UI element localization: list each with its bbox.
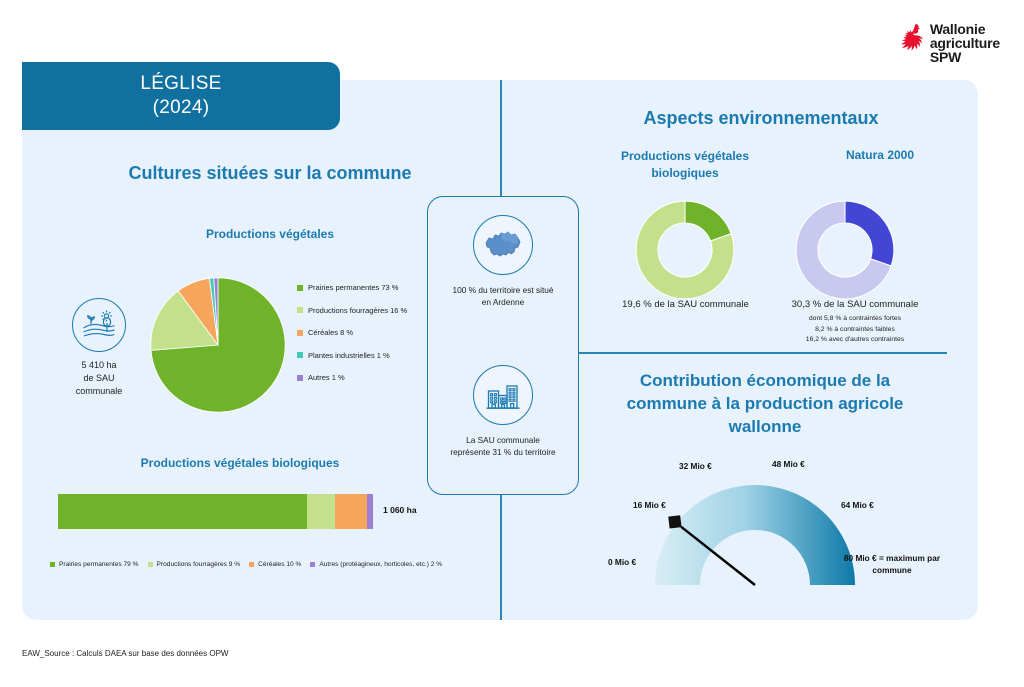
- legend-label: Plantes industrielles 1 %: [308, 351, 390, 360]
- donut-segment: [845, 201, 894, 266]
- legend-swatch: [297, 375, 303, 381]
- legend-swatch: [297, 330, 303, 336]
- commune-name: LÉGLISE: [140, 72, 221, 96]
- fact-sau-text: La SAU communale représente 31 % du terr…: [428, 434, 578, 459]
- gauge-tick-80: 80 Mio € = maximum par commune: [837, 553, 947, 576]
- sau-area-value: 5 410 ha: [52, 359, 146, 372]
- heading-donut-bio-l2: biologiques: [600, 165, 770, 182]
- wallonie-spw-logo: Wallonie agriculture SPW: [899, 22, 1000, 64]
- gauge-tick-32: 32 Mio €: [679, 461, 712, 471]
- legend-item: Céréales 10 %: [249, 561, 301, 568]
- fact-ardenne-text: 100 % du territoire est situé en Ardenne: [428, 284, 578, 309]
- heading-productions-vegetales: Productions végétales: [110, 227, 430, 241]
- legend-swatch: [297, 307, 303, 313]
- legend-swatch: [249, 562, 254, 567]
- heading-aspects-environnementaux: Aspects environnementaux: [575, 108, 947, 129]
- rooster-icon: [899, 22, 925, 56]
- fact-ardenne-line2: en Ardenne: [436, 296, 570, 308]
- sau-label-1: de SAU: [52, 372, 146, 385]
- heading-contribution-economique: Contribution économique de la commune à …: [600, 370, 930, 439]
- legend-label: Prairies permanentes 79 %: [59, 561, 139, 568]
- heading-contrib-l2: commune à la production agricole: [600, 393, 930, 416]
- wallonia-map-icon: [473, 215, 533, 275]
- legend-swatch: [310, 562, 315, 567]
- legend-item: Productions fourragères 16 %: [297, 306, 437, 315]
- pie-chart-legend: Prairies permanentes 73 %Productions fou…: [297, 283, 437, 396]
- bar-segment: [367, 494, 373, 529]
- legend-swatch: [297, 352, 303, 358]
- sau-summary-block: 5 410 ha de SAU communale: [52, 298, 146, 398]
- bar-segment: [58, 494, 307, 529]
- heading-contrib-l1: Contribution économique de la: [600, 370, 930, 393]
- logo-line-spw: SPW: [930, 50, 1000, 64]
- legend-label: Prairies permanentes 73 %: [308, 283, 398, 292]
- heading-productions-bio: Productions végétales biologiques: [40, 456, 440, 470]
- donut-chart-natura: [793, 198, 897, 302]
- fact-ardenne-line1: 100 % du territoire est situé: [436, 284, 570, 296]
- source-footer: EAW_Source : Calculs DAEA sur base des d…: [22, 649, 228, 658]
- legend-label: Céréales 8 %: [308, 328, 353, 337]
- bar-segment: [335, 494, 367, 529]
- caption-donut-bio: 19,6 % de la SAU communale: [588, 299, 783, 310]
- legend-swatch: [50, 562, 55, 567]
- heading-contrib-l3: wallonne: [600, 416, 930, 439]
- bar-segment: [307, 494, 335, 529]
- legend-label: Autres 1 %: [308, 373, 345, 382]
- legend-label: Céréales 10 %: [258, 561, 301, 568]
- sau-label-2: communale: [52, 385, 146, 398]
- legend-label: Autres (protéagineux, horticoles, etc.) …: [319, 561, 442, 568]
- territory-facts-card: 100 % du territoire est situé en Ardenne: [427, 196, 579, 495]
- natura-detail-3: 16,2 % avec d'autres contraintes: [760, 335, 950, 346]
- commune-title-chip: LÉGLISE (2024): [22, 62, 340, 130]
- stacked-bar-chart: [58, 494, 373, 529]
- gauge-marker: [668, 515, 681, 528]
- logo-line-agriculture: agriculture: [930, 36, 1000, 50]
- stacked-bar-total-label: 1 060 ha: [383, 505, 417, 515]
- natura-detail-2: 8,2 % à contraintes faibles: [760, 325, 950, 336]
- logo-line-wallonie: Wallonie: [930, 22, 1000, 36]
- gauge-chart-contribution: [640, 455, 870, 605]
- legend-item: Prairies permanentes 73 %: [297, 283, 437, 292]
- legend-item: Productions fourragères 9 %: [148, 561, 241, 568]
- legend-swatch: [148, 562, 153, 567]
- caption-natura-details: dont 5,8 % à contraintes fortes 8,2 % à …: [760, 314, 950, 346]
- heading-donut-bio-l1: Productions végétales: [600, 148, 770, 165]
- gauge-arc: [655, 485, 855, 585]
- stacked-bar-legend: Prairies permanentes 79 %Productions fou…: [50, 561, 451, 568]
- heading-donut-bio: Productions végétales biologiques: [600, 148, 770, 182]
- caption-donut-natura: 30,3 % de la SAU communale: [755, 299, 955, 310]
- gauge-tick-48: 48 Mio €: [772, 459, 805, 469]
- fact-sau-line2: représente 31 % du territoire: [436, 446, 570, 458]
- legend-item: Céréales 8 %: [297, 328, 437, 337]
- heading-cultures: Cultures situées sur la commune: [60, 163, 480, 184]
- pie-chart-productions-vegetales: [148, 275, 288, 415]
- legend-label: Productions fourragères 9 %: [157, 561, 241, 568]
- legend-item: Plantes industrielles 1 %: [297, 351, 437, 360]
- donut-segment: [685, 201, 731, 241]
- sau-text: 5 410 ha de SAU communale: [52, 359, 146, 398]
- buildings-icon: [473, 365, 533, 425]
- horizontal-divider: [575, 352, 947, 354]
- legend-item: Autres (protéagineux, horticoles, etc.) …: [310, 561, 442, 568]
- donut-chart-bio: [633, 198, 737, 302]
- commune-year: (2024): [153, 96, 210, 120]
- legend-swatch: [297, 285, 303, 291]
- gauge-tick-64: 64 Mio €: [841, 500, 874, 510]
- fact-sau-line1: La SAU communale: [436, 434, 570, 446]
- natura-detail-1: dont 5,8 % à contraintes fortes: [760, 314, 950, 325]
- fact-sau-territory: La SAU communale représente 31 % du terr…: [428, 365, 578, 459]
- legend-item: Prairies permanentes 79 %: [50, 561, 139, 568]
- farm-field-icon: [72, 298, 126, 352]
- heading-donut-natura: Natura 2000: [790, 148, 970, 162]
- legend-label: Productions fourragères 16 %: [308, 306, 407, 315]
- gauge-tick-16: 16 Mio €: [633, 500, 666, 510]
- fact-ardenne: 100 % du territoire est situé en Ardenne: [428, 215, 578, 309]
- gauge-tick-0: 0 Mio €: [608, 557, 636, 567]
- infographic-stage: Wallonie agriculture SPW LÉGLISE (2024) …: [0, 0, 1024, 687]
- legend-item: Autres 1 %: [297, 373, 437, 382]
